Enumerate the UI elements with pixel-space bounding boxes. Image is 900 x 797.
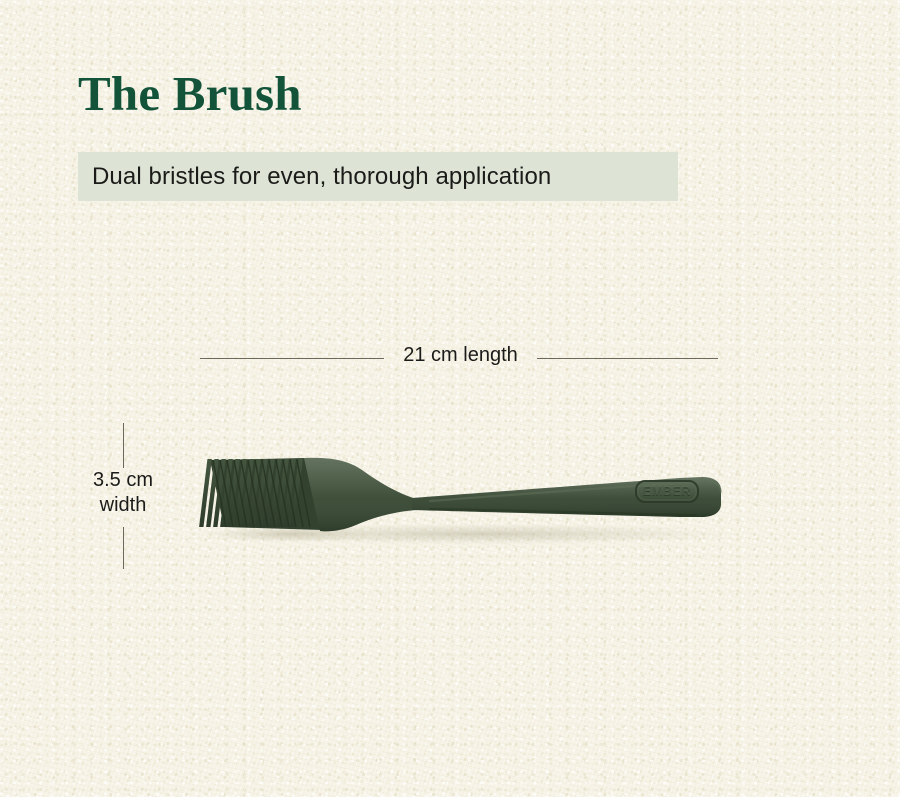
brand-mark-text-highlight: EMBER (643, 484, 691, 498)
product-detail-page: The Brush Dual bristles for even, thorou… (0, 0, 900, 797)
width-dimension-label: 3.5 cm width (45, 468, 201, 518)
page-title: The Brush (78, 68, 302, 119)
subtitle-text: Dual bristles for even, thorough applica… (92, 152, 551, 201)
width-dimension-label-line1: 3.5 cm (45, 468, 201, 493)
brush-illustration: EMBER EMBER EMBER (180, 430, 760, 560)
width-dimension-line-bottom (123, 527, 124, 569)
length-dimension-label: 21 cm length (384, 344, 537, 367)
brush-head-sheen (304, 458, 416, 532)
width-dimension-label-line2: width (45, 493, 201, 518)
logo-plate: EMBER EMBER (636, 481, 698, 502)
length-dimension-line-left (200, 358, 384, 359)
width-dimension-line-top (123, 423, 124, 468)
brand-mark-label: EMBER (180, 560, 181, 561)
bristle-block (199, 458, 322, 530)
length-dimension-line-right (537, 358, 718, 359)
